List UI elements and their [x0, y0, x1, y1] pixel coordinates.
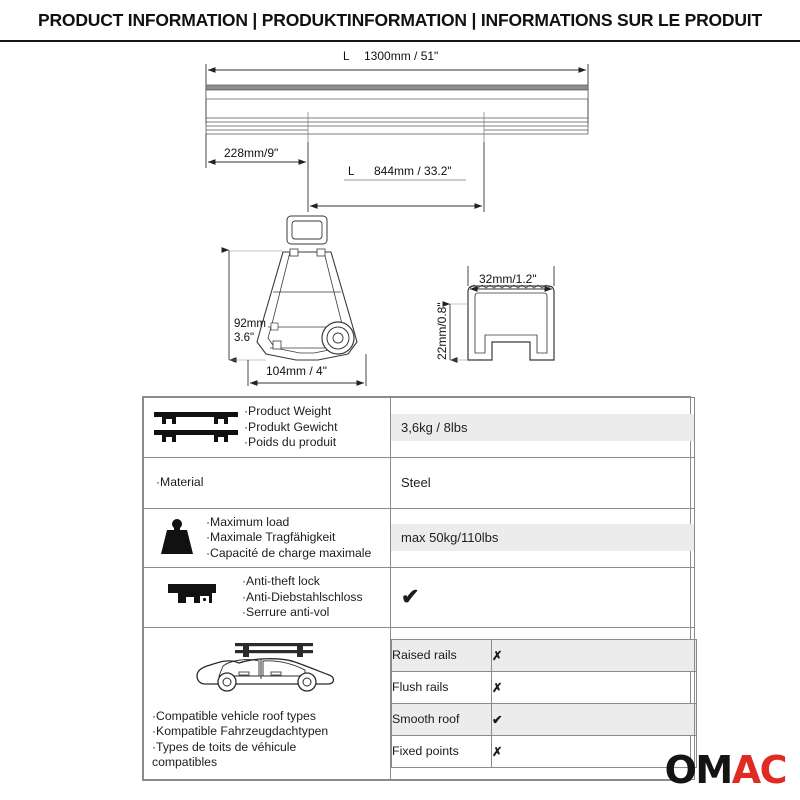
crossbar-top-view [206, 112, 588, 142]
anti-theft-labels: ·Anti-theft lock ·Anti-Diebstahlschloss … [242, 574, 363, 621]
anti-theft-value: ✔ [391, 580, 694, 614]
page-title: PRODUCT INFORMATION | PRODUKTINFORMATION… [38, 10, 762, 31]
profile-cross-section [468, 285, 554, 360]
logo-text-dark: OM [665, 748, 732, 792]
foot-offset-value: 228mm/9" [224, 146, 278, 160]
roof-option-row: Fixed points ✗ [392, 735, 697, 767]
table-row-material: ·Material Steel [144, 457, 695, 508]
table-row-anti-theft-lock: ·Anti-theft lock ·Anti-Diebstahlschloss … [144, 568, 695, 628]
roof-types-labels: ·Compatible vehicle roof types ·Kompatib… [152, 709, 382, 771]
technical-drawing: L 1300mm / 51" 228mm/9" [0, 42, 800, 390]
roof-option-name: Smooth roof [392, 703, 492, 735]
span-value: 844mm / 33.2" [374, 164, 452, 178]
page-header: PRODUCT INFORMATION | PRODUKTINFORMATION… [0, 0, 800, 42]
profile-width-value: 32mm/1.2" [479, 272, 537, 286]
crossbar-pair-icon [152, 407, 240, 447]
roof-option-mark: ✗ [492, 639, 697, 671]
profile-height-dimension [450, 304, 468, 360]
roof-option-row: Smooth roof ✔ [392, 703, 697, 735]
roof-option-name: Flush rails [392, 671, 492, 703]
crossbar-side-view [206, 85, 588, 99]
foot-height-line2: 3.6" [234, 332, 254, 344]
foot-width-value: 104mm / 4" [266, 364, 327, 378]
maximum-load-value: max 50kg/110lbs [391, 524, 694, 551]
material-labels: ·Material [152, 475, 203, 491]
brand-logo: OMAC [665, 750, 786, 790]
weight-icon [152, 518, 202, 558]
roof-option-mark: ✔ [492, 703, 697, 735]
roof-option-row: Raised rails ✗ [392, 639, 697, 671]
span-prefix: L [348, 166, 355, 178]
car-with-rack-icon [152, 634, 382, 709]
overall-length-prefix: L [343, 51, 350, 63]
table-row-product-weight: ·Product Weight ·Produkt Gewicht ·Poids … [144, 398, 695, 458]
roof-option-name: Fixed points [392, 735, 492, 767]
overall-length-value: 1300mm / 51" [364, 49, 438, 63]
roof-option-mark: ✗ [492, 671, 697, 703]
maximum-load-labels: ·Maximum load ·Maximale Tragfähigkeit ·C… [206, 515, 371, 562]
specification-table: ·Product Weight ·Produkt Gewicht ·Poids … [142, 396, 691, 781]
product-weight-labels: ·Product Weight ·Produkt Gewicht ·Poids … [244, 404, 337, 451]
foot-front-view [257, 216, 357, 360]
profile-height-value: 22mm/0.8" [435, 302, 449, 360]
table-row-maximum-load: ·Maximum load ·Maximale Tragfähigkeit ·C… [144, 508, 695, 568]
roof-option-row: Flush rails ✗ [392, 671, 697, 703]
table-row-roof-types: ·Compatible vehicle roof types ·Kompatib… [144, 627, 695, 779]
logo-text-accent: AC [732, 748, 786, 792]
product-weight-value: 3,6kg / 8lbs [391, 414, 694, 441]
material-value: Steel [391, 469, 694, 496]
roof-compatibility-subtable: Raised rails ✗ Flush rails ✗ Smooth roof… [391, 639, 697, 768]
lock-icon [152, 580, 238, 614]
foot-height-line1: 92mm [234, 318, 266, 330]
roof-option-name: Raised rails [392, 639, 492, 671]
